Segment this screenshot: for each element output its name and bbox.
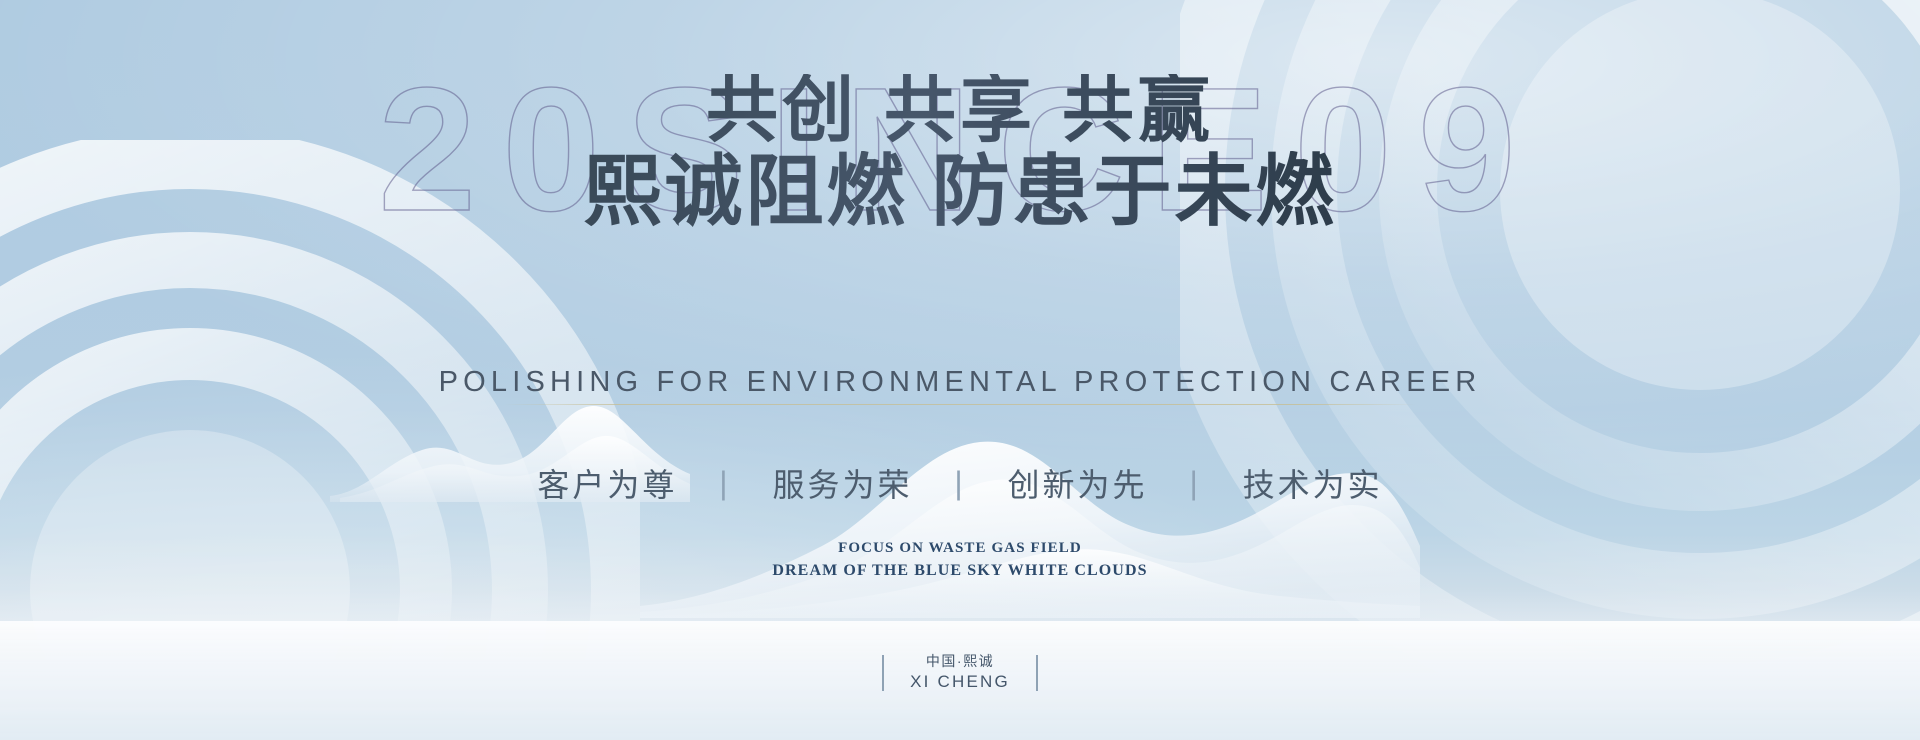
mountain-shape-right [640, 428, 1420, 623]
brand-rule-right [1036, 655, 1038, 691]
headline-line-1: 共创共享共赢 [0, 74, 1920, 149]
value-item-4: 技术为实 [1243, 460, 1383, 506]
headline-line-2: 熙诚阻燃防患于未燃 [0, 151, 1920, 232]
banner-stage: 20SINCE09 [0, 0, 1920, 740]
english-subtitle-underline [504, 404, 1416, 405]
headline-line1-part-c: 共赢 [1062, 71, 1214, 151]
rings-top-right-svg [1180, 0, 1920, 710]
headline-line1-part-b: 共享 [884, 71, 1036, 151]
decorative-rings-bottom-left [0, 140, 640, 740]
mountain-right-svg [640, 428, 1420, 618]
brand-lockup: 中国·熙诚 XI CHENG [0, 653, 1920, 692]
rings-bottom-left-svg [0, 140, 640, 740]
micro-serif-line-1: FOCUS ON WASTE GAS FIELD [0, 540, 1920, 557]
headline-line2-part-a: 熙诚阻燃 [583, 148, 907, 235]
value-separator-2: | [954, 465, 965, 502]
headline-line2-part-b: 防患于未燃 [932, 148, 1337, 235]
value-separator-1: | [719, 465, 730, 502]
brand-name-en: XI CHENG [910, 671, 1010, 692]
micro-serif-line-2: DREAM OF THE BLUE SKY WHITE CLOUDS [0, 562, 1920, 580]
brand-rule-left [882, 655, 884, 691]
brand-name-cn: 中国·熙诚 [910, 653, 1010, 671]
english-subtitle: POLISHING FOR ENVIRONMENTAL PROTECTION C… [0, 366, 1920, 399]
value-item-1: 客户为尊 [537, 460, 677, 506]
brand-text: 中国·熙诚 XI CHENG [910, 653, 1010, 692]
decorative-rings-top-right [1180, 0, 1920, 710]
value-item-3: 创新为先 [1008, 460, 1148, 506]
ghost-outline-text: 20SINCE09 [0, 62, 1920, 238]
values-row: 客户为尊 | 服务为荣 | 创新为先 | 技术为实 [0, 460, 1920, 506]
headline-line1-part-a: 共创 [706, 71, 858, 151]
headline-block: 共创共享共赢 熙诚阻燃防患于未燃 [0, 74, 1920, 232]
value-item-2: 服务为荣 [772, 460, 912, 506]
micro-serif-block: FOCUS ON WASTE GAS FIELD DREAM OF THE BL… [0, 540, 1920, 580]
value-separator-3: | [1189, 465, 1200, 502]
